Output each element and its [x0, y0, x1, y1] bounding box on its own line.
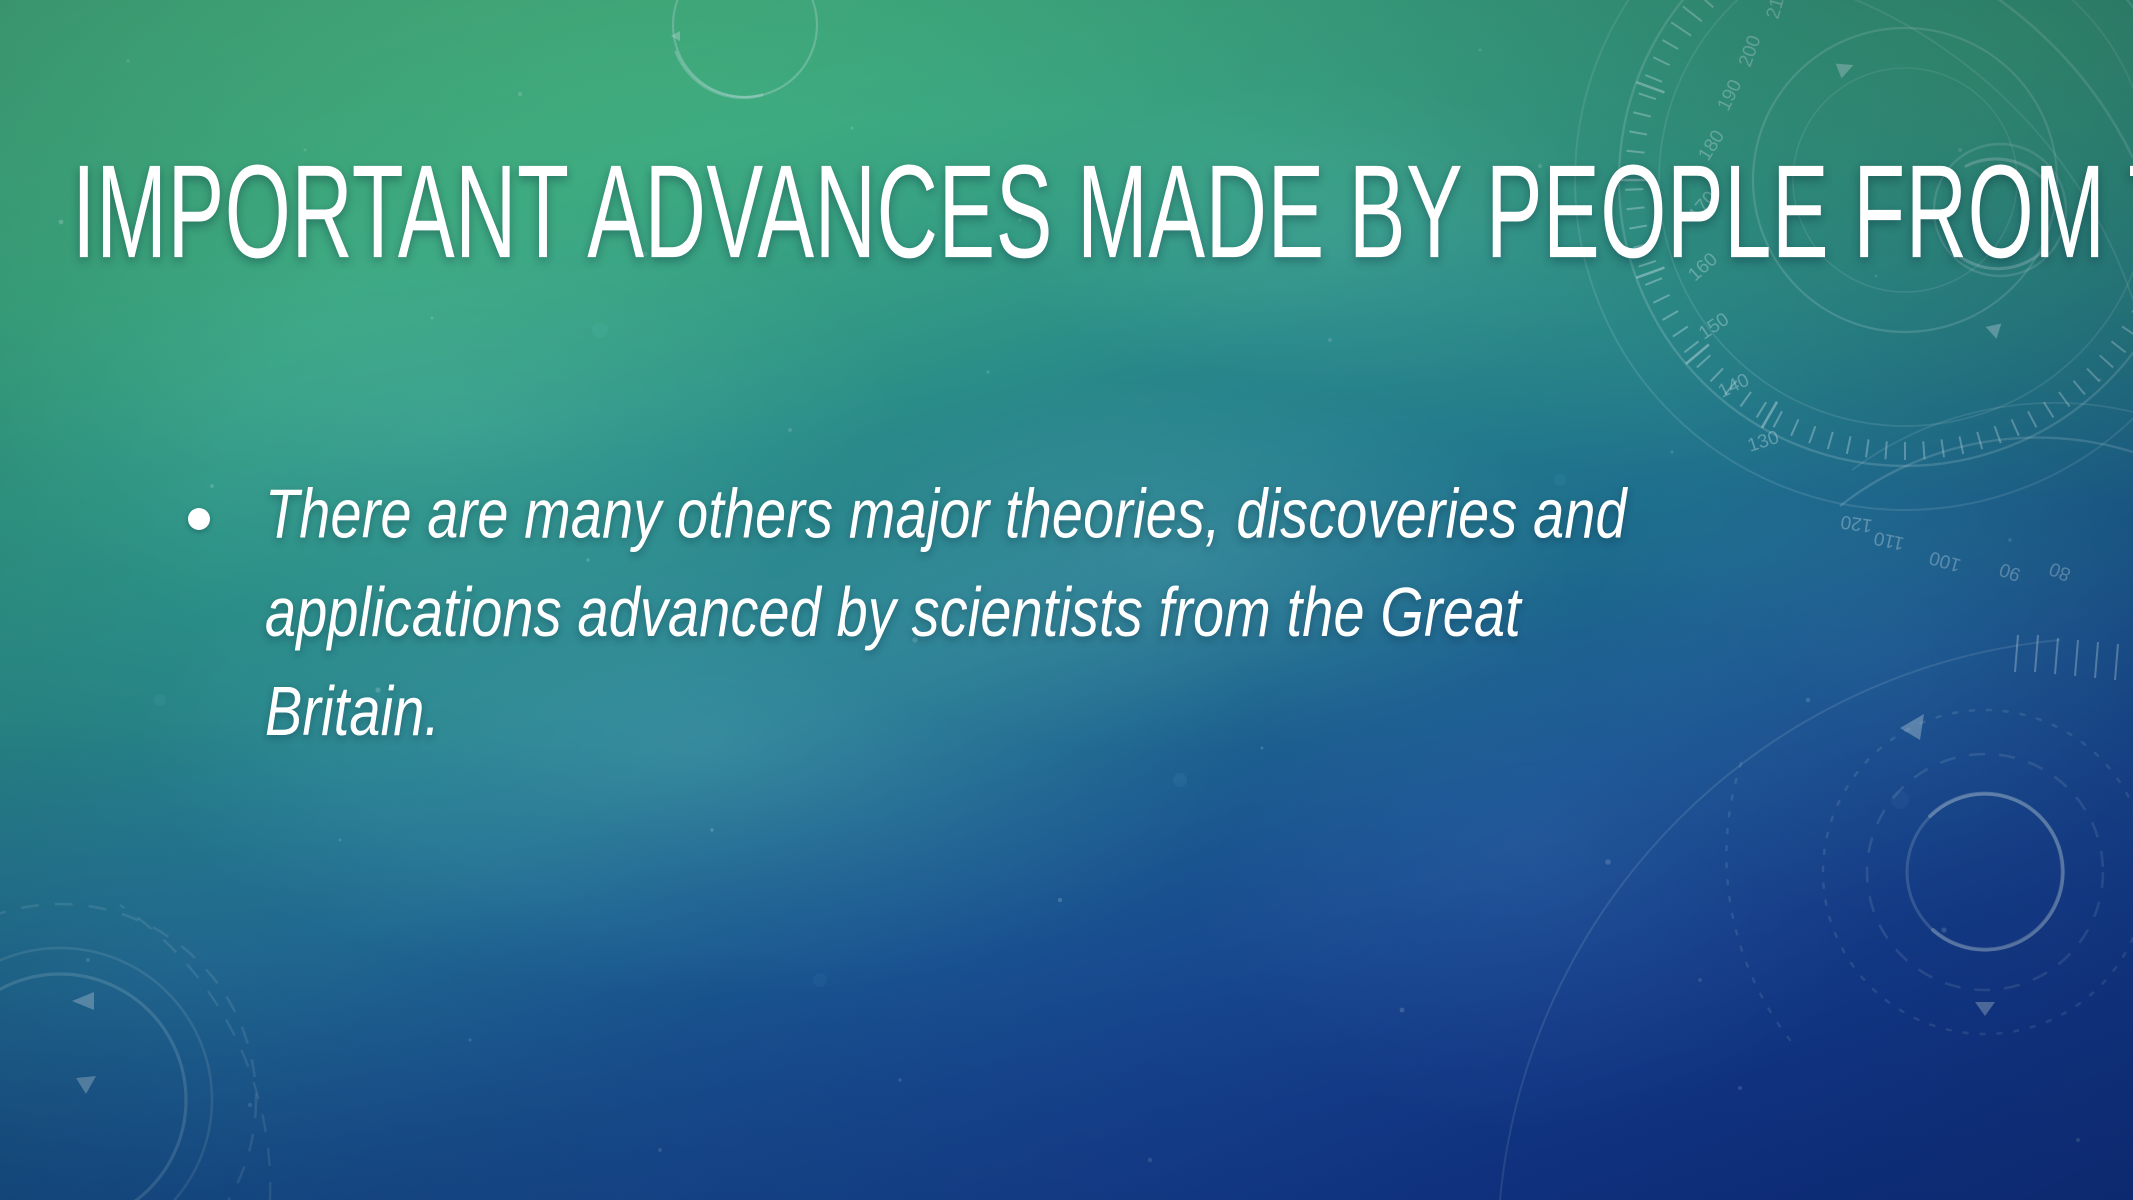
bullet-item-text: There are many others major theories, di… [265, 466, 1708, 762]
svg-text:100: 100 [1927, 546, 1963, 575]
svg-text:190: 190 [1714, 76, 1747, 114]
svg-text:140: 140 [1715, 370, 1753, 403]
presentation-slide: .ln { fill:none; stroke:#cfe6ec; stroke-… [0, 0, 2133, 1200]
bottom-right-hud-rings [1726, 710, 2133, 1040]
svg-text:130: 130 [1745, 427, 1782, 457]
bullet-list-item: There are many others major theories, di… [188, 466, 1868, 730]
svg-text:80: 80 [2046, 557, 2073, 584]
top-center-ring-decoration [671, 0, 817, 98]
bullet-point-icon [188, 508, 210, 530]
bottom-left-concentric-rings [0, 904, 270, 1200]
svg-text:150: 150 [1695, 309, 1733, 344]
svg-text:210: 210 [1763, 0, 1792, 21]
slide-title: Important Advances Made by People from t… [72, 144, 1742, 279]
svg-text:200: 200 [1735, 33, 1766, 70]
svg-text:90: 90 [1997, 558, 2024, 585]
svg-text:110: 110 [1872, 527, 1906, 554]
slide-body: There are many others major theories, di… [188, 466, 1868, 730]
